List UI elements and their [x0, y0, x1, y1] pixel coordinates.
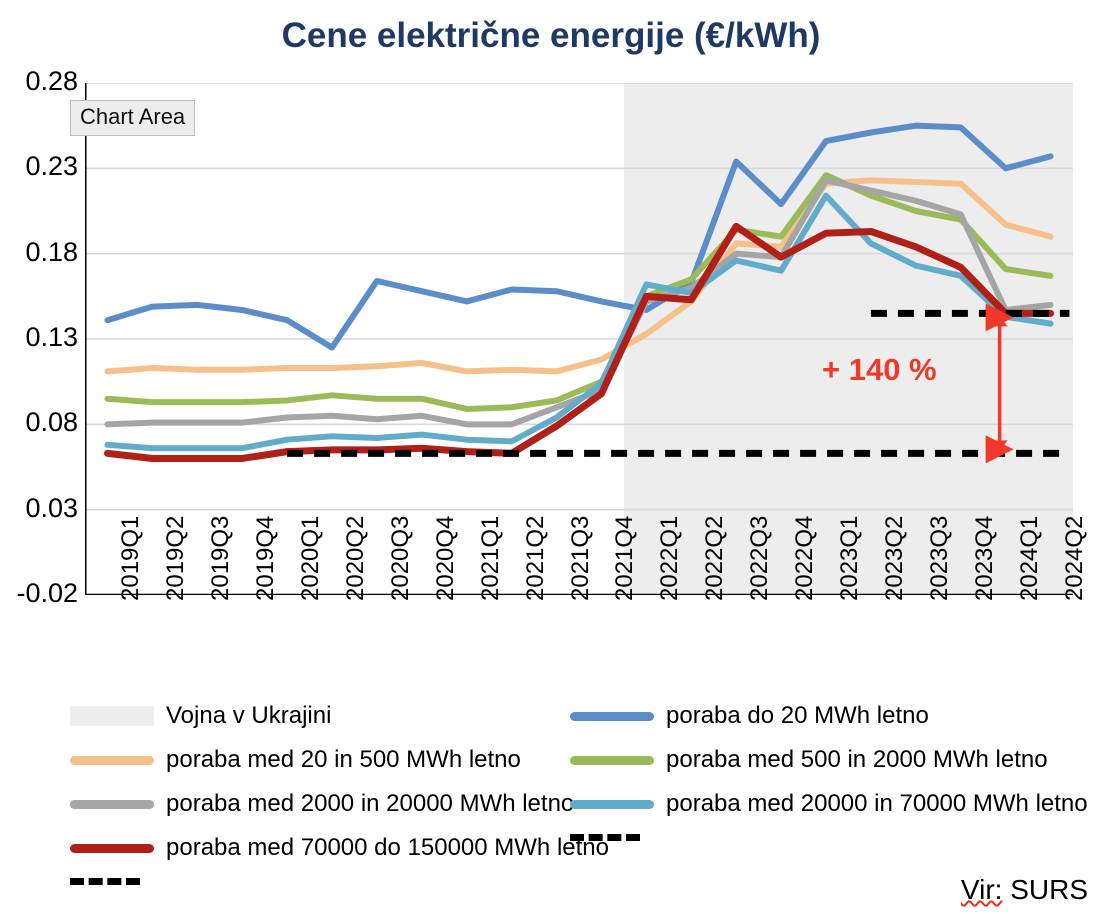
y-tick-label: 0.18: [0, 237, 78, 268]
x-tick-label: 2024Q1: [1016, 516, 1044, 601]
legend-item[interactable]: [570, 834, 652, 841]
x-tick-label: 2019Q1: [117, 516, 145, 601]
x-tick-label: 2019Q4: [252, 516, 280, 601]
source-note: Vir: SURS: [961, 874, 1088, 906]
y-tick-label: 0.03: [0, 493, 78, 524]
x-tick-label: 2020Q4: [432, 516, 460, 601]
y-tick-label: 0.08: [0, 407, 78, 438]
x-tick-label: 2024Q2: [1061, 516, 1089, 601]
legend-label: poraba med 70000 do 150000 MWh letno: [166, 834, 609, 862]
legend-label: poraba med 20000 in 70000 MWh letno: [666, 790, 1088, 818]
chart-area-tooltip: Chart Area: [70, 100, 195, 136]
legend-swatch: [570, 756, 654, 765]
x-tick-label: 2022Q1: [656, 516, 684, 601]
legend-item[interactable]: poraba med 500 in 2000 MWh letno: [570, 746, 1048, 774]
legend-item[interactable]: poraba med 20 in 500 MWh letno: [70, 746, 521, 774]
legend-item[interactable]: poraba med 70000 do 150000 MWh letno: [70, 834, 609, 862]
x-tick-label: 2022Q2: [701, 516, 729, 601]
x-tick-label: 2019Q2: [162, 516, 190, 601]
legend-label: poraba do 20 MWh letno: [666, 702, 929, 730]
source-prefix: Vir:: [961, 874, 1003, 905]
y-tick-label: 0.28: [0, 66, 78, 97]
legend-label: poraba med 500 in 2000 MWh letno: [666, 746, 1048, 774]
x-tick-label: 2021Q4: [611, 516, 639, 601]
x-tick-label: 2023Q3: [926, 516, 954, 601]
legend-item[interactable]: Vojna v Ukrajini: [70, 702, 331, 730]
legend-label: poraba med 2000 in 20000 MWh letno: [166, 790, 574, 818]
legend-label: poraba med 20 in 500 MWh letno: [166, 746, 521, 774]
legend-swatch: [70, 878, 140, 885]
x-tick-label: 2021Q2: [522, 516, 550, 601]
x-tick-label: 2022Q3: [746, 516, 774, 601]
legend-swatch: [570, 712, 654, 721]
x-tick-label: 2023Q2: [881, 516, 909, 601]
legend-swatch: [70, 800, 154, 809]
legend-item[interactable]: [70, 878, 152, 885]
legend-swatch: [70, 844, 154, 853]
legend-swatch: [570, 800, 654, 809]
legend-swatch: [70, 756, 154, 765]
x-tick-label: 2020Q1: [297, 516, 325, 601]
y-tick-label: 0.13: [0, 322, 78, 353]
source-value: SURS: [1010, 874, 1088, 905]
legend-item[interactable]: poraba med 20000 in 70000 MWh letno: [570, 790, 1088, 818]
y-tick-label: 0.23: [0, 151, 78, 182]
y-tick-label: -0.02: [0, 578, 78, 609]
percent-change-annotation: + 140 %: [822, 352, 937, 388]
legend-item[interactable]: poraba do 20 MWh letno: [570, 702, 929, 730]
legend-swatch: [70, 706, 154, 726]
legend-swatch: [570, 834, 640, 841]
x-tick-label: 2020Q3: [387, 516, 415, 601]
x-tick-label: 2021Q1: [477, 516, 505, 601]
x-tick-label: 2022Q4: [791, 516, 819, 601]
x-tick-label: 2023Q4: [971, 516, 999, 601]
x-tick-label: 2021Q3: [567, 516, 595, 601]
x-tick-label: 2023Q1: [836, 516, 864, 601]
x-tick-label: 2020Q2: [342, 516, 370, 601]
x-tick-label: 2019Q3: [207, 516, 235, 601]
legend: Vojna v Ukrajiniporaba do 20 MWh letnopo…: [0, 690, 1102, 890]
legend-label: Vojna v Ukrajini: [166, 702, 331, 730]
legend-item[interactable]: poraba med 2000 in 20000 MWh letno: [70, 790, 574, 818]
